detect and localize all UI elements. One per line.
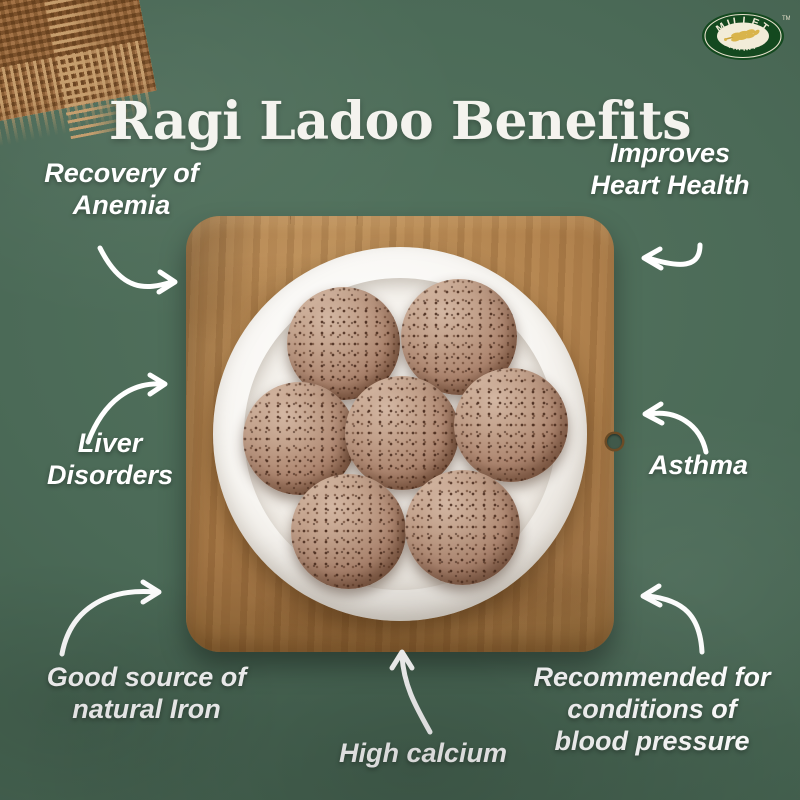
- logo-trademark: TM: [782, 16, 790, 22]
- arrow-heart-icon: [644, 245, 700, 268]
- benefit-label-calcium: High calcium: [318, 738, 528, 770]
- poster-canvas: MILLET AMMA TM Ragi Ladoo Benefits: [0, 0, 800, 800]
- arrow-calcium-icon: [392, 652, 430, 732]
- benefit-label-blood-pressure: Recommended for conditions of blood pres…: [512, 662, 792, 758]
- arrow-asthma-icon: [645, 404, 706, 452]
- ladoo-ball: [454, 368, 568, 482]
- benefit-label-asthma: Asthma: [611, 450, 786, 482]
- benefit-label-iron: Good source of natural Iron: [14, 662, 279, 726]
- ladoo-ball: [291, 474, 406, 589]
- millet-amma-logo[interactable]: MILLET AMMA TM: [698, 8, 790, 64]
- ladoo-ball: [405, 470, 520, 585]
- ladoo-photo: [186, 216, 614, 652]
- benefit-label-heart: Improves Heart Health: [550, 138, 790, 202]
- benefit-label-liver: Liver Disorders: [10, 428, 210, 492]
- arrow-iron-icon: [62, 582, 159, 654]
- benefit-label-anemia: Recovery of Anemia: [14, 158, 229, 222]
- arrow-anemia-icon: [100, 248, 175, 292]
- board-hanging-hole: [607, 434, 622, 449]
- arrow-bp-icon: [643, 586, 702, 652]
